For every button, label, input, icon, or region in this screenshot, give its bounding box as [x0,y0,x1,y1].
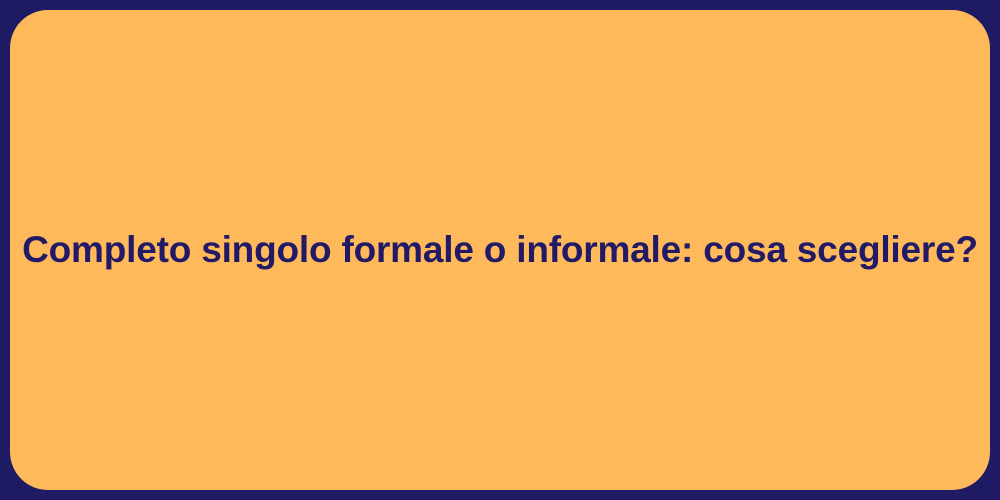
headline-text: Completo singolo formale o informale: co… [10,227,990,273]
banner-frame: Completo singolo formale o informale: co… [0,0,1000,500]
headline-card: Completo singolo formale o informale: co… [10,10,990,490]
